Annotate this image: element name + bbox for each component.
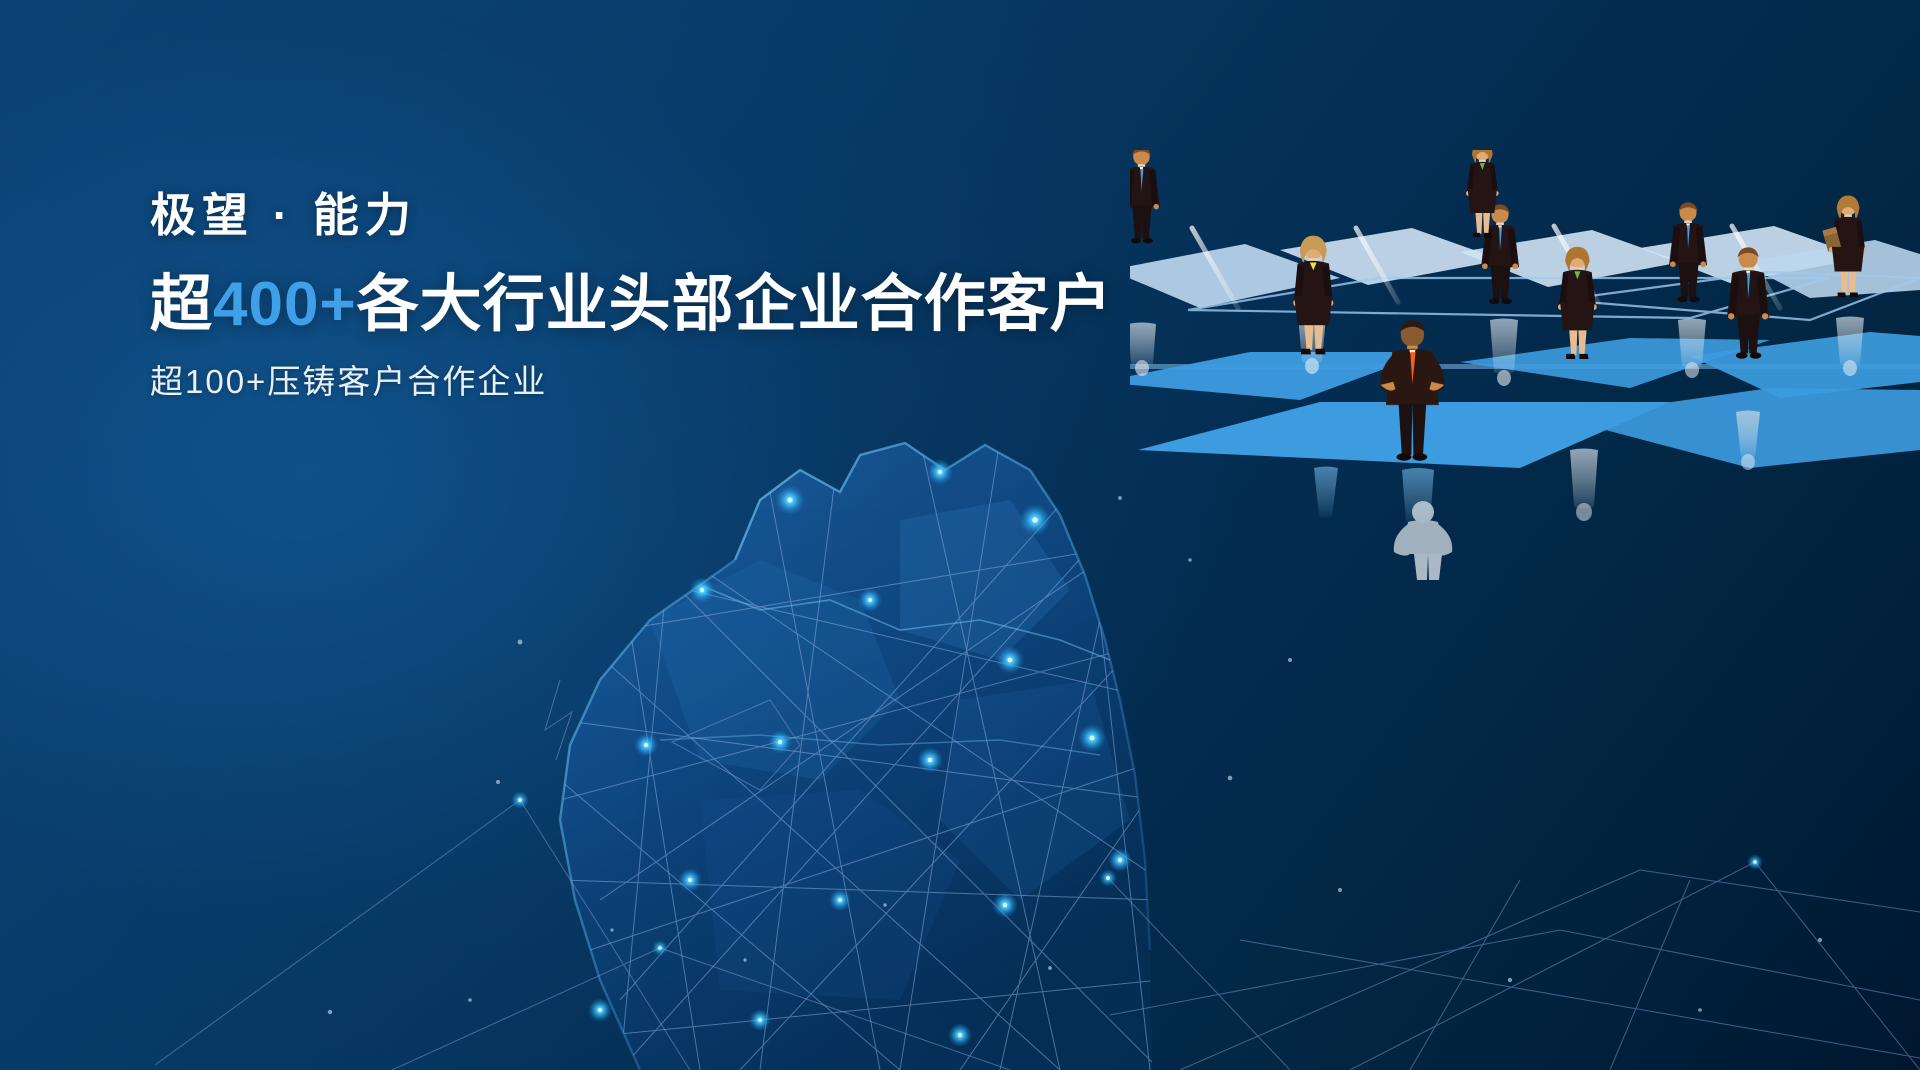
headline-prefix: 超 (150, 270, 213, 339)
business-people-illustration (1130, 150, 1920, 720)
platform-group-back (1130, 226, 1920, 308)
person-p6 (1466, 150, 1499, 237)
banner-stage: 极望 · 能力 超400+各大行业头部企业合作客户 超100+压铸客户合作企业 (0, 0, 1920, 1070)
headline-block: 极望 · 能力 超400+各大行业头部企业合作客户 超100+压铸客户合作企业 (150, 188, 1113, 401)
headline-number: 400+ (213, 270, 357, 339)
person-p1 (1130, 150, 1160, 243)
page-title: 超400+各大行业头部企业合作客户 (150, 270, 1113, 339)
people-platforms-graphic (1130, 150, 1920, 720)
person-p4 (1669, 203, 1707, 303)
subtitle-text: 超100+压铸客户合作企业 (150, 362, 1113, 402)
eyebrow-text: 极望 · 能力 (150, 188, 1113, 242)
headline-suffix: 各大行业头部企业合作客户 (357, 270, 1113, 339)
platform-foreground (1138, 388, 1920, 468)
